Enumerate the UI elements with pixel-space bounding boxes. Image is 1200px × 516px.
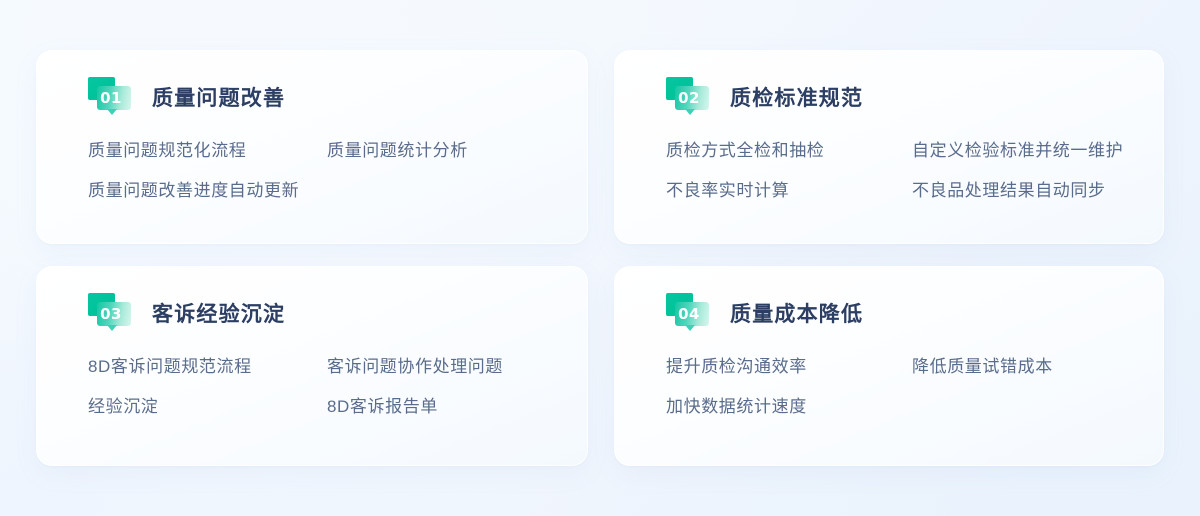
feature-item: 不良品处理结果自动同步 [912,178,1134,204]
feature-item: 8D客诉报告单 [327,394,558,420]
feature-list: 提升质检沟通效率 降低质量试错成本 加快数据统计速度 [666,354,1134,420]
feature-list: 质检方式全检和抽检 自定义检验标准并统一维护 不良率实时计算 不良品处理结果自动… [666,138,1134,204]
card-header: 04 质量成本降低 [666,294,1134,334]
feature-card-03[interactable]: 03 客诉经验沉淀 8D客诉问题规范流程 客诉问题协作处理问题 经验沉淀 8D客… [36,266,588,466]
feature-item: 经验沉淀 [88,394,319,420]
badge-speech-bubble-icon: 02 [675,86,709,110]
feature-card-02[interactable]: 02 质检标准规范 质检方式全检和抽检 自定义检验标准并统一维护 不良率实时计算… [614,50,1164,244]
card-title: 客诉经验沉淀 [152,304,285,325]
badge-number: 02 [678,91,700,106]
feature-item: 提升质检沟通效率 [666,354,888,380]
number-badge-icon: 02 [666,77,712,119]
feature-item: 8D客诉问题规范流程 [88,354,319,380]
feature-item: 质量问题规范化流程 [88,138,319,164]
card-header: 01 质量问题改善 [88,78,558,118]
number-badge-icon: 01 [88,77,134,119]
badge-number: 01 [100,91,122,106]
feature-list: 质量问题规范化流程 质量问题统计分析 质量问题改善进度自动更新 [88,138,558,204]
feature-card-04[interactable]: 04 质量成本降低 提升质检沟通效率 降低质量试错成本 加快数据统计速度 [614,266,1164,466]
card-header: 03 客诉经验沉淀 [88,294,558,334]
card-title: 质量问题改善 [152,88,285,109]
feature-item: 不良率实时计算 [666,178,888,204]
feature-item: 加快数据统计速度 [666,394,888,420]
feature-item: 质量问题改善进度自动更新 [88,178,319,204]
feature-card-01[interactable]: 01 质量问题改善 质量问题规范化流程 质量问题统计分析 质量问题改善进度自动更… [36,50,588,244]
card-title: 质检标准规范 [730,88,863,109]
badge-number: 03 [100,307,122,322]
number-badge-icon: 03 [88,293,134,335]
number-badge-icon: 04 [666,293,712,335]
badge-speech-bubble-icon: 01 [97,86,131,110]
feature-item: 降低质量试错成本 [912,354,1134,380]
feature-card-board: 01 质量问题改善 质量问题规范化流程 质量问题统计分析 质量问题改善进度自动更… [0,0,1200,516]
feature-list: 8D客诉问题规范流程 客诉问题协作处理问题 经验沉淀 8D客诉报告单 [88,354,558,420]
badge-speech-bubble-icon: 03 [97,302,131,326]
feature-item: 质量问题统计分析 [327,138,558,164]
feature-item: 质检方式全检和抽检 [666,138,888,164]
card-title: 质量成本降低 [730,304,863,325]
badge-speech-bubble-icon: 04 [675,302,709,326]
badge-number: 04 [678,307,700,322]
card-header: 02 质检标准规范 [666,78,1134,118]
feature-item: 客诉问题协作处理问题 [327,354,558,380]
card-grid: 01 质量问题改善 质量问题规范化流程 质量问题统计分析 质量问题改善进度自动更… [36,50,1164,466]
feature-item: 自定义检验标准并统一维护 [912,138,1134,164]
